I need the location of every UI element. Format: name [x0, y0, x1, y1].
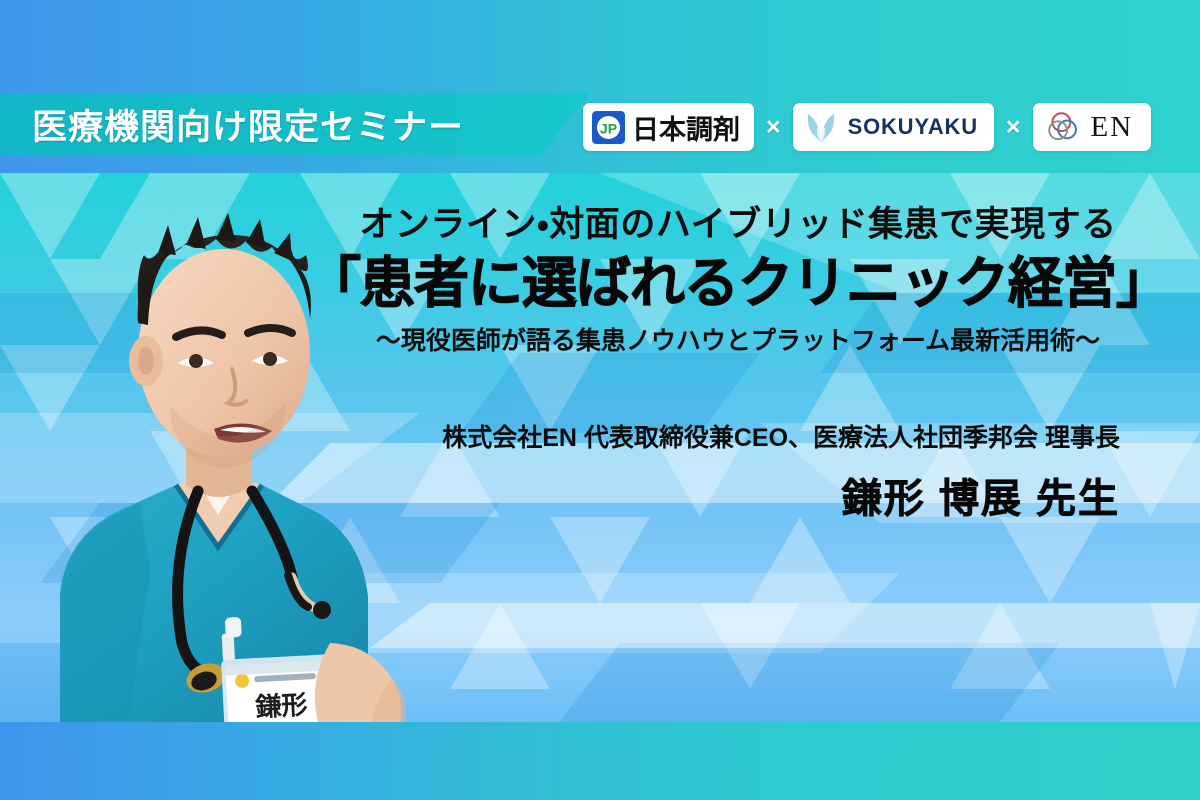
logo-separator-1: ×: [766, 115, 781, 140]
speaker-name: 鎌形 博展 先生: [298, 466, 1178, 524]
headline-text: 「患者に選ばれるクリニック経営」: [298, 252, 1178, 316]
en-rings-mark: [1045, 110, 1081, 144]
bottom-gradient-band: [0, 722, 1200, 800]
logo-nihon-chouzai: JP 日本調剤: [583, 103, 754, 151]
speaker-role: 株式会社EN 代表取締役兼CEO、医療法人社団季邦会 理事長: [298, 418, 1178, 454]
logo-en-label: EN: [1091, 111, 1134, 144]
sokuyaku-tulip-mark: [803, 110, 839, 144]
copy-block: オンライン・対面のハイブリッド集患で実現する 「患者に選ばれるクリニック経営」 …: [298, 205, 1178, 524]
logo-separator-2: ×: [1006, 115, 1021, 140]
subline-text: 〜現役医師が語る集患ノウハウとプラットフォーム最新活用術〜: [298, 326, 1178, 356]
svg-text:鎌形: 鎌形: [254, 690, 309, 722]
seminar-ribbon-label-wrap: 医療機関向け限定セミナー: [0, 93, 560, 155]
kicker-text: オンライン・対面のハイブリッド集患で実現する: [298, 205, 1178, 244]
logo-sokuyaku-label: SOKUYAKU: [848, 114, 978, 140]
jp-circle-mark: JP: [592, 111, 625, 144]
logo-nihon-chouzai-label: 日本調剤: [632, 108, 740, 147]
partner-logo-row: JP 日本調剤 × SOKUYAKU × EN: [583, 103, 1151, 151]
seminar-banner: 鎌形 医療機関向け限定セミナー JP 日本調剤 ×: [0, 0, 1200, 800]
logo-en: EN: [1033, 103, 1152, 151]
logo-sokuyaku: SOKUYAKU: [793, 103, 994, 151]
seminar-ribbon-label: 医療機関向け限定セミナー: [32, 99, 464, 150]
svg-text:JP: JP: [600, 120, 617, 136]
